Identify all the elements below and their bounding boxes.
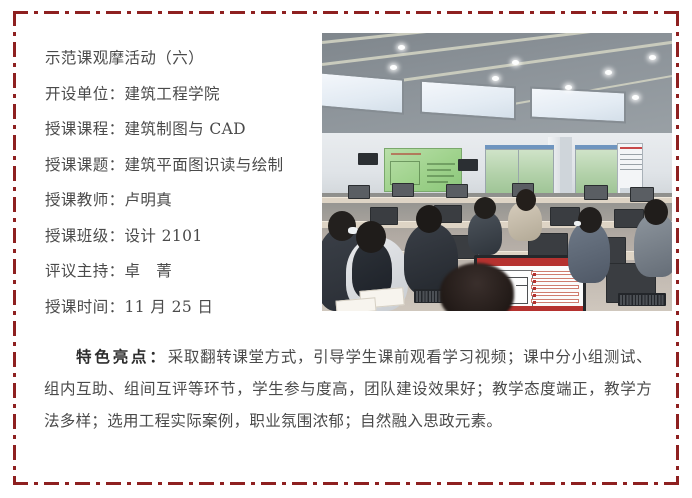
keyboard [618, 293, 666, 306]
frame-bottom-border [13, 482, 679, 485]
downlight-icon [605, 70, 612, 75]
projected-title-line [391, 153, 421, 155]
projected-text-line [427, 181, 448, 183]
poster-page: 示范课观摩活动（六） 开设单位：建筑工程学院 授课课程：建筑制图与 CAD 授课… [0, 0, 692, 498]
frame-top-border [13, 11, 679, 14]
info-line-topic: 授课课题：建筑平面图识读与绘制 [45, 148, 330, 184]
ceiling-light-panel [420, 80, 516, 121]
downlight-icon [398, 45, 405, 50]
frame-right-border [676, 11, 679, 485]
wall-pillar [560, 137, 572, 201]
info-line-host: 评议主持：卓 菁 [45, 254, 330, 290]
downlight-icon [632, 95, 639, 100]
cad-annotation-item [531, 285, 579, 289]
info-line-time: 授课时间：11 月 25 日 [45, 290, 330, 326]
face-mask [574, 221, 581, 226]
paper-sheet [335, 297, 376, 311]
lab-monitor [446, 184, 468, 198]
notice-board-row [620, 164, 642, 165]
highlights-paragraph: 特色亮点：采取翻转课堂方式，引导学生课前观看学习视频；课中分小组测试、组内互助、… [44, 341, 652, 437]
student-head [416, 205, 442, 233]
notice-board-row [620, 169, 642, 170]
student-head [516, 189, 536, 211]
notice-board-header [620, 147, 642, 149]
classroom-photo [322, 33, 672, 311]
wall-monitor [458, 159, 478, 171]
ceiling-light-panel [530, 86, 626, 123]
computer-lab-area [322, 193, 672, 311]
photo-content [322, 33, 672, 311]
notice-board-row [620, 159, 642, 160]
downlight-icon [390, 65, 397, 70]
lab-desk [322, 197, 672, 203]
downlight-icon [492, 76, 499, 81]
notice-board-row [620, 154, 642, 155]
plan-wall [516, 285, 528, 286]
student-head [644, 199, 668, 225]
wall-monitor [358, 153, 378, 165]
downlight-icon [512, 60, 519, 65]
student-head [356, 221, 386, 253]
page-title: 示范课观摩活动（六） [45, 41, 330, 77]
downlight-icon [565, 85, 572, 90]
frame-left-border [13, 11, 16, 485]
projected-text-line [427, 175, 454, 177]
student-head [578, 207, 602, 233]
student-head [328, 211, 356, 241]
student-head [474, 197, 496, 219]
downlight-icon [649, 55, 656, 60]
lab-monitor [392, 183, 414, 197]
cad-annotation-item [531, 299, 579, 303]
info-line-class: 授课班级：设计 2101 [45, 219, 330, 255]
info-line-teacher: 授课教师：卢明真 [45, 183, 330, 219]
projected-text-line [427, 169, 451, 171]
plan-wall [527, 277, 528, 304]
lab-monitor [348, 185, 370, 199]
cad-annotation-item [531, 292, 579, 296]
cad-annotation-item [531, 278, 579, 282]
projected-text-line [427, 163, 455, 165]
projected-floor-plan [390, 161, 420, 185]
highlights-label: 特色亮点： [76, 347, 168, 366]
lab-monitor [584, 185, 608, 200]
ceiling-light-panel [322, 71, 404, 115]
info-line-course: 授课课程：建筑制图与 CAD [45, 112, 330, 148]
info-line-unit: 开设单位：建筑工程学院 [45, 77, 330, 113]
course-info-block: 示范课观摩活动（六） 开设单位：建筑工程学院 授课课程：建筑制图与 CAD 授课… [45, 41, 330, 325]
